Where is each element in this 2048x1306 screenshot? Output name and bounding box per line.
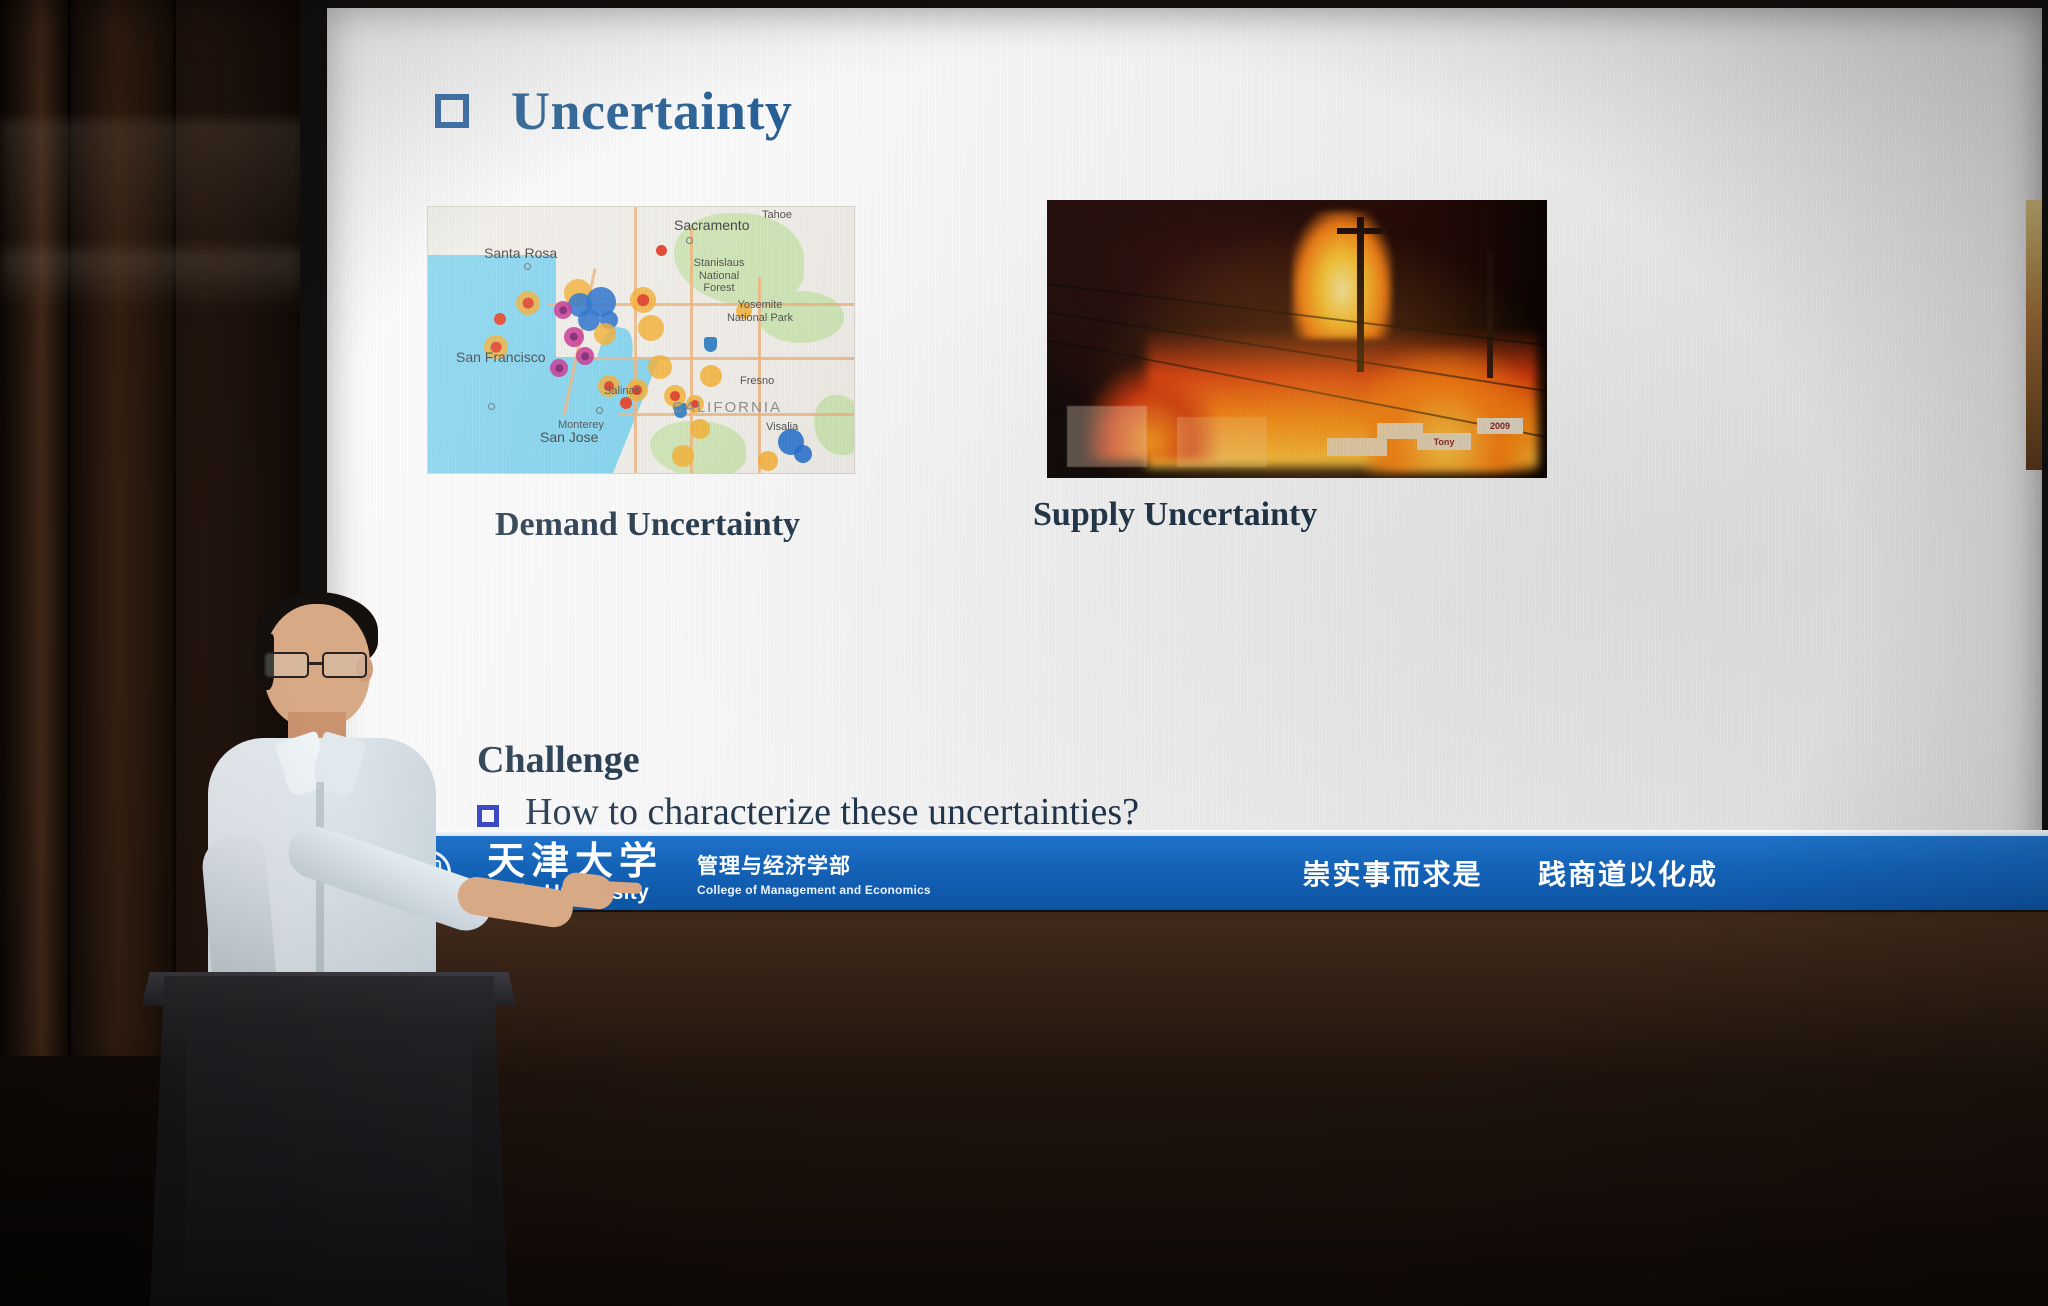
demand-marker <box>672 445 694 467</box>
map-label: Yosemite National Park <box>724 299 796 324</box>
map-label: San Jose <box>540 429 598 445</box>
list-item: How to characterize these uncertainties? <box>477 793 1555 833</box>
college-name-block: 管理与经济学部 College of Management and Econom… <box>697 850 931 897</box>
offscreen-image-sliver <box>2026 200 2042 470</box>
map-label: Stanislaus National Forest <box>684 257 754 295</box>
demand-marker <box>690 419 710 439</box>
page-title: Uncertainty <box>511 80 792 142</box>
glasses-icon <box>262 652 374 678</box>
demand-marker <box>554 301 572 319</box>
lens-left <box>264 652 309 678</box>
city-marker <box>524 263 531 270</box>
map-label: San Francisco <box>456 349 545 365</box>
map-label: Salinas <box>604 385 640 397</box>
demand-marker <box>794 445 812 463</box>
california-demand-map: Sacramento Santa Rosa San Francisco San … <box>427 206 855 474</box>
list-item-label: How to characterize these uncertainties? <box>525 793 1139 833</box>
city-marker <box>596 407 603 414</box>
demand-marker <box>620 397 632 409</box>
highway <box>578 357 855 360</box>
shop-sign: Tony <box>1417 433 1471 450</box>
pointing-finger <box>602 881 643 894</box>
slide-title-row: Uncertainty <box>435 80 792 142</box>
map-label: Tahoe <box>762 209 792 221</box>
college-name-cn: 管理与经济学部 <box>697 850 931 880</box>
demand-marker <box>648 355 672 379</box>
interstate-shield-icon <box>704 337 717 352</box>
demand-marker <box>656 245 667 256</box>
college-name-en: College of Management and Economics <box>697 883 931 897</box>
map-label: Fresno <box>740 375 774 387</box>
podium-front-panel <box>186 1026 472 1276</box>
map-label: Monterey <box>558 419 604 431</box>
city-marker <box>686 237 693 244</box>
demand-marker <box>594 323 616 345</box>
map-label: CALIFORNIA <box>672 399 782 416</box>
motto-part-1: 崇实事而求是 <box>1302 853 1482 893</box>
demand-marker <box>564 327 584 347</box>
utility-pole <box>1357 217 1364 373</box>
square-outline-icon <box>435 94 469 128</box>
university-motto: 崇实事而求是 践商道以化成 <box>1302 853 1718 893</box>
market-stall <box>1067 406 1147 467</box>
presentation-photo: Uncertainty <box>0 0 2048 1306</box>
demand-marker <box>576 347 594 365</box>
demand-marker <box>758 451 778 471</box>
flame <box>1367 350 1537 472</box>
highway <box>634 207 637 474</box>
media-row: Sacramento Santa Rosa San Francisco San … <box>327 198 2042 488</box>
market-fire-photo: Tony 2009 <box>1047 200 1547 478</box>
city-marker <box>488 403 495 410</box>
caption-demand-uncertainty: Demand Uncertainty <box>495 506 800 544</box>
market-stall <box>1177 417 1267 467</box>
demand-marker <box>700 365 722 387</box>
wall-highlight <box>0 120 305 270</box>
demand-marker <box>550 359 568 377</box>
forest-area <box>814 395 855 455</box>
shop-sign <box>1327 438 1387 456</box>
utility-pole <box>1487 250 1493 378</box>
glasses-bridge <box>309 662 322 665</box>
map-label: Visalia <box>766 421 798 433</box>
demand-marker <box>638 315 664 341</box>
motto-part-2: 践商道以化成 <box>1538 853 1718 893</box>
utility-pole-crossarm <box>1337 228 1383 234</box>
demand-marker <box>630 287 656 313</box>
shop-sign: 2009 <box>1477 418 1523 434</box>
demand-marker <box>516 291 540 315</box>
map-label: Santa Rosa <box>484 245 557 261</box>
map-label: Sacramento <box>674 217 749 233</box>
caption-supply-uncertainty: Supply Uncertainty <box>1033 496 1317 534</box>
lens-right <box>322 652 367 678</box>
demand-marker <box>494 313 506 325</box>
wall-highlight <box>0 250 305 310</box>
